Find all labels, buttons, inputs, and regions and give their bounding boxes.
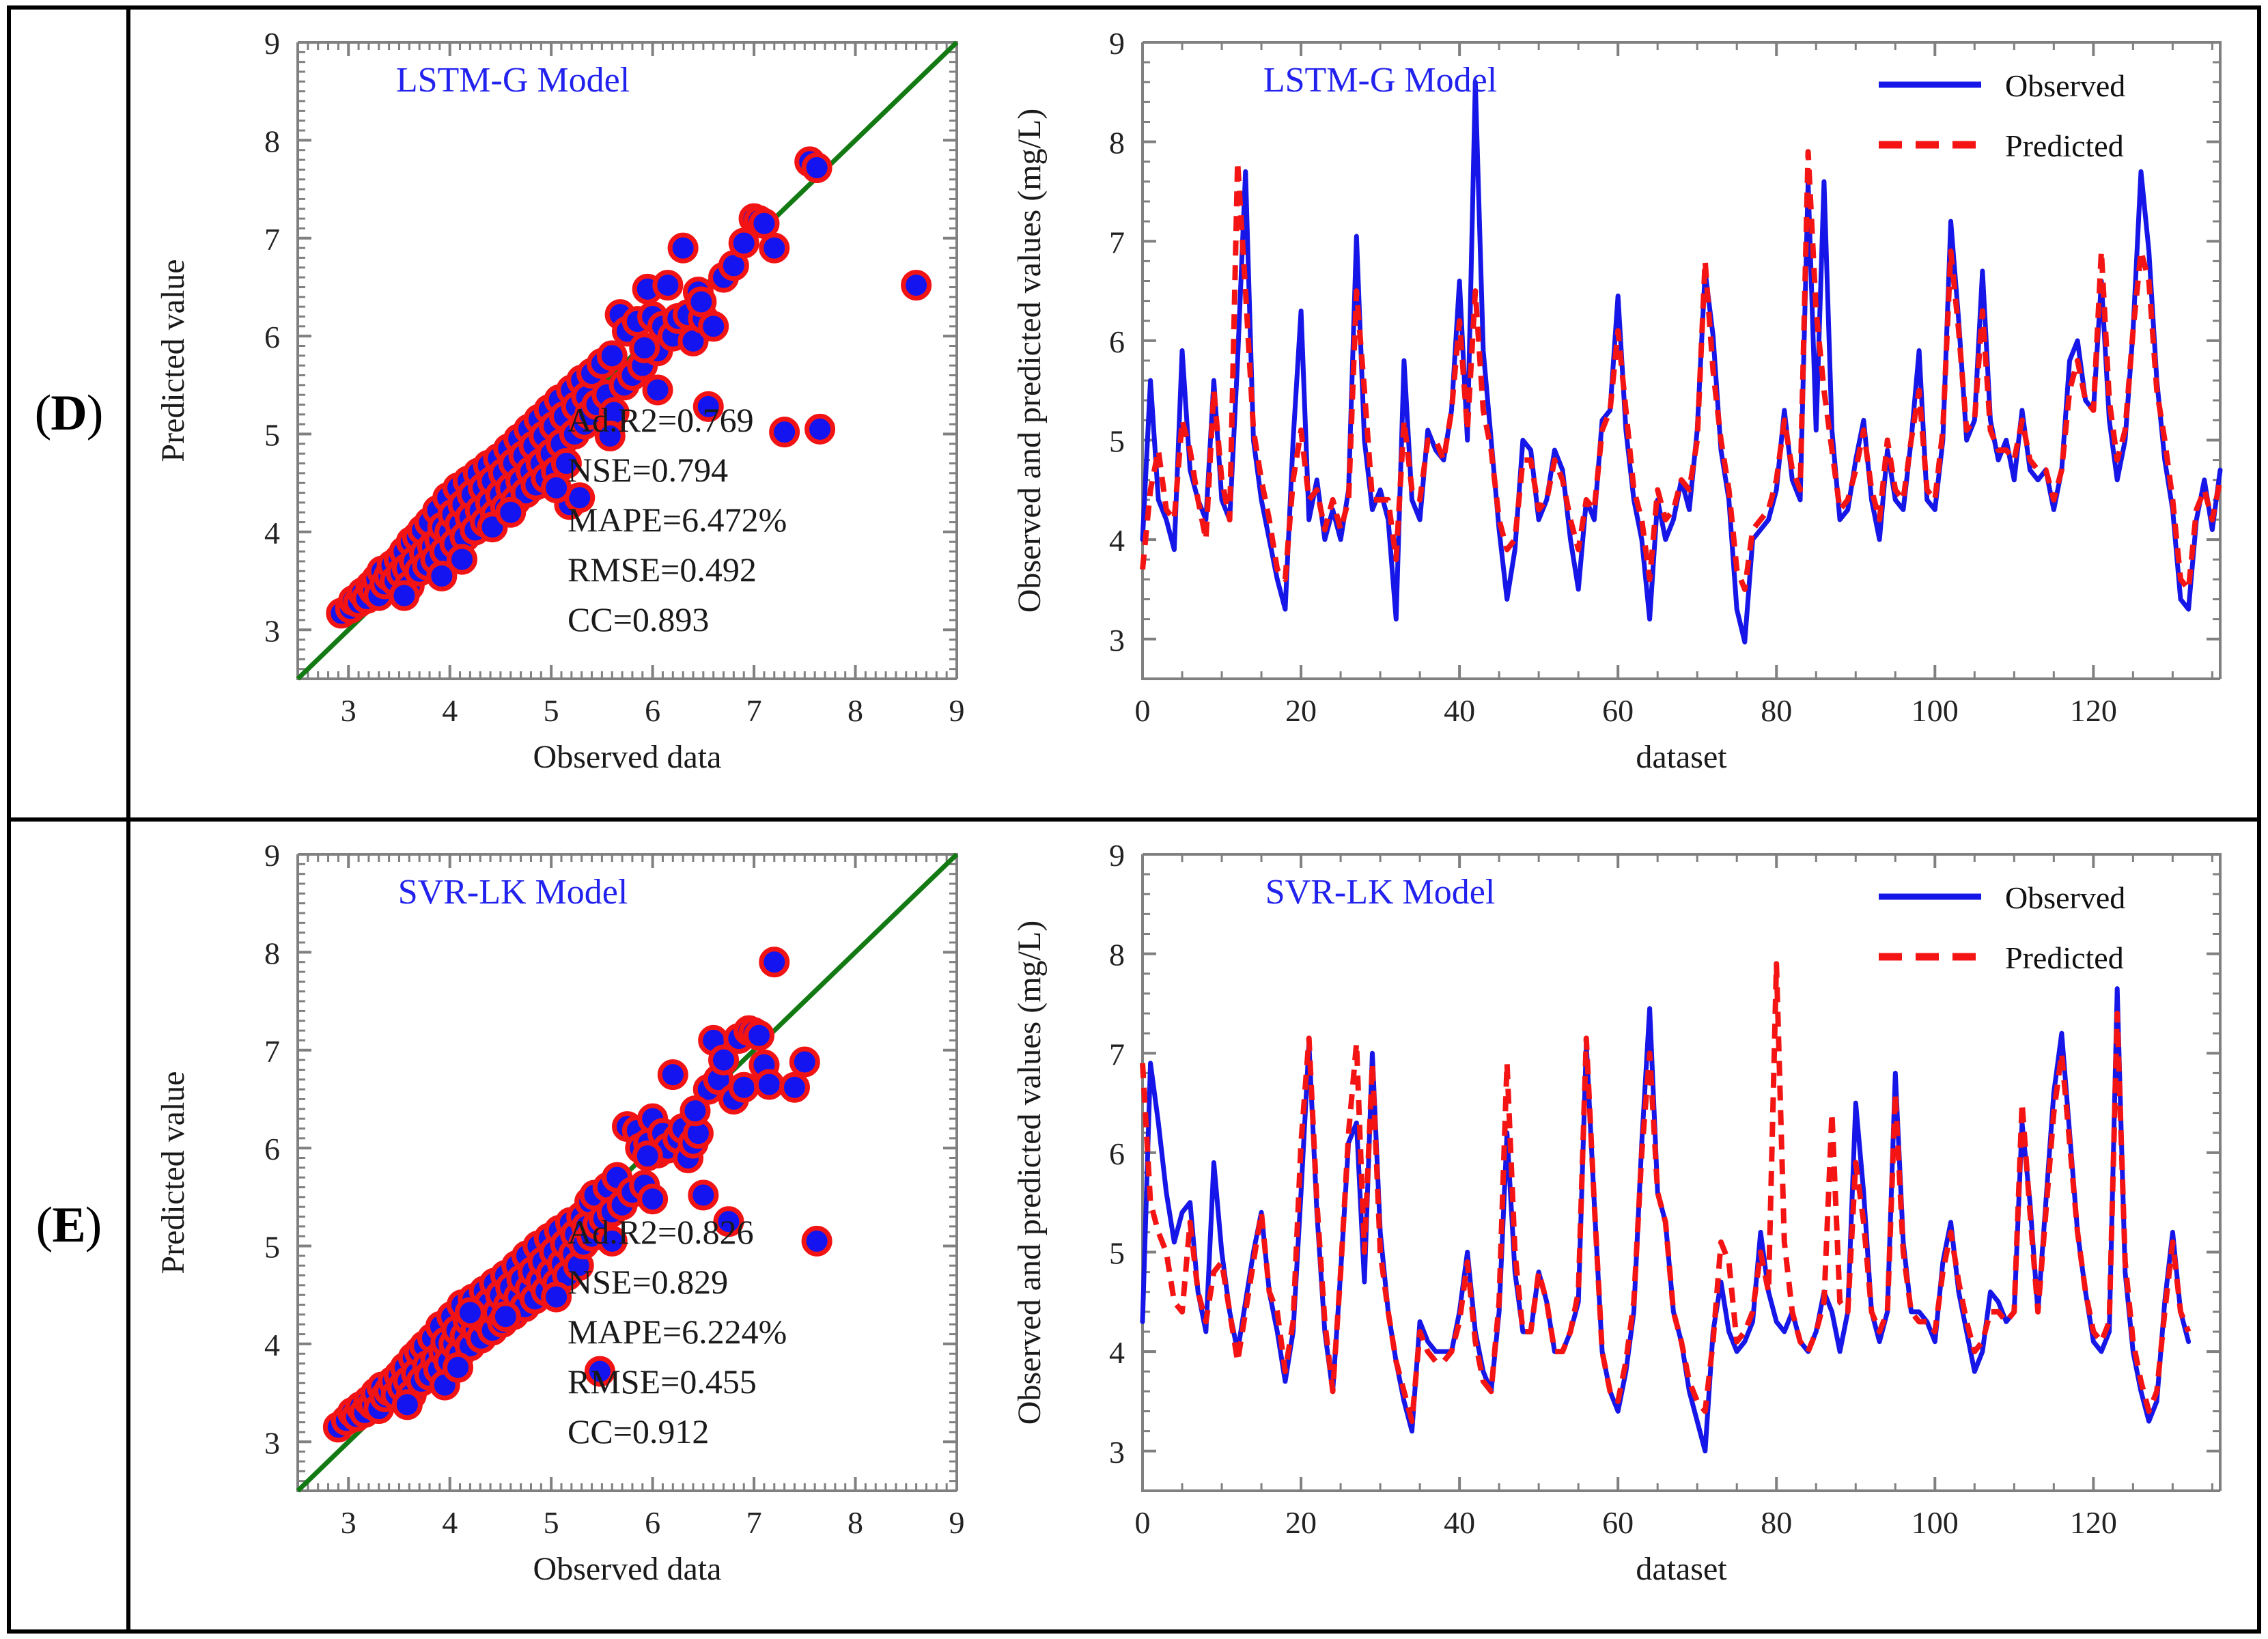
svg-text:SVR-LK Model: SVR-LK Model [398, 873, 628, 912]
svg-text:80: 80 [1761, 693, 1792, 728]
svg-text:7: 7 [746, 1505, 762, 1540]
svg-text:NSE=0.794: NSE=0.794 [568, 451, 728, 489]
svg-text:0: 0 [1135, 1505, 1151, 1540]
svg-text:5: 5 [1109, 1236, 1125, 1271]
svg-text:4: 4 [442, 693, 458, 728]
svg-text:6: 6 [645, 1505, 660, 1540]
svg-text:NSE=0.829: NSE=0.829 [568, 1263, 728, 1301]
svg-text:5: 5 [544, 1505, 559, 1540]
svg-text:Predicted value: Predicted value [155, 1071, 191, 1274]
svg-text:Observed and predicted values: Observed and predicted values (mg/L) [1011, 921, 1048, 1425]
svg-text:Observed: Observed [2005, 880, 2125, 915]
figure-grid: (D) 34567893456789Observed dataPredicted… [7, 5, 2261, 1634]
svg-text:LSTM-G Model: LSTM-G Model [396, 61, 630, 100]
panel-row-E: (E) 34567893456789Observed dataPredicted… [11, 822, 2257, 1629]
svg-text:5: 5 [544, 693, 559, 728]
svg-text:3: 3 [1109, 1435, 1125, 1470]
svg-text:9: 9 [264, 26, 280, 61]
svg-text:8: 8 [264, 124, 280, 158]
panel-label-E: (E) [36, 1196, 102, 1255]
svg-text:3: 3 [341, 1505, 356, 1540]
svg-text:Ad.R2=0.769: Ad.R2=0.769 [568, 401, 754, 439]
panel-letter-E: E [52, 1197, 85, 1253]
panel-label-cell-D: (D) [11, 10, 130, 817]
svg-text:0: 0 [1135, 693, 1151, 728]
svg-text:SVR-LK Model: SVR-LK Model [1265, 873, 1496, 912]
svg-text:9: 9 [1109, 838, 1125, 873]
svg-text:6: 6 [645, 693, 660, 728]
svg-text:6: 6 [264, 320, 280, 354]
svg-text:60: 60 [1602, 693, 1634, 728]
svg-text:100: 100 [1912, 1505, 1959, 1540]
svg-text:5: 5 [1109, 424, 1125, 459]
svg-text:Observed and predicted values: Observed and predicted values (mg/L) [1011, 109, 1048, 613]
scatter-plot-E: 34567893456789Observed dataPredicted val… [130, 822, 998, 1629]
svg-text:8: 8 [848, 1505, 863, 1540]
svg-text:CC=0.912: CC=0.912 [568, 1412, 709, 1451]
panel-content-E: 34567893456789Observed dataPredicted val… [130, 822, 2257, 1629]
svg-text:RMSE=0.455: RMSE=0.455 [568, 1362, 757, 1401]
svg-text:120: 120 [2070, 693, 2117, 728]
svg-text:8: 8 [848, 693, 863, 728]
svg-text:MAPE=6.224%: MAPE=6.224% [568, 1313, 787, 1351]
figure-root: (D) 34567893456789Observed dataPredicted… [0, 0, 2268, 1639]
svg-text:7: 7 [264, 1034, 280, 1069]
panel-label-D: (D) [35, 384, 103, 443]
svg-text:7: 7 [746, 693, 762, 728]
svg-text:8: 8 [1109, 938, 1125, 972]
svg-text:4: 4 [264, 1328, 280, 1362]
svg-text:RMSE=0.492: RMSE=0.492 [568, 550, 757, 589]
svg-text:Observed data: Observed data [533, 1551, 722, 1587]
svg-text:Predicted: Predicted [2005, 940, 2124, 975]
svg-text:MAPE=6.472%: MAPE=6.472% [568, 501, 787, 539]
svg-text:dataset: dataset [1636, 739, 1727, 775]
svg-text:7: 7 [264, 222, 280, 257]
svg-text:Ad.R2=0.826: Ad.R2=0.826 [568, 1213, 754, 1251]
svg-text:6: 6 [1109, 1136, 1125, 1171]
svg-text:4: 4 [442, 1505, 458, 1540]
svg-text:3: 3 [341, 693, 356, 728]
svg-text:4: 4 [1109, 1335, 1125, 1370]
svg-text:5: 5 [264, 418, 280, 453]
svg-text:8: 8 [1109, 126, 1125, 160]
panel-row-D: (D) 34567893456789Observed dataPredicted… [11, 10, 2257, 822]
svg-text:3: 3 [264, 1425, 280, 1460]
svg-text:9: 9 [264, 838, 280, 873]
series-plot-D: 0204060801001203456789datasetObserved an… [998, 10, 2257, 817]
svg-text:4: 4 [1109, 523, 1125, 558]
svg-text:Observed data: Observed data [533, 739, 722, 775]
panel-label-cell-E: (E) [11, 822, 130, 1629]
series-plot-E: 0204060801001203456789datasetObserved an… [998, 822, 2257, 1629]
svg-text:Observed: Observed [2005, 68, 2125, 103]
svg-text:9: 9 [949, 693, 965, 728]
svg-text:5: 5 [264, 1230, 280, 1265]
svg-text:9: 9 [1109, 26, 1125, 61]
svg-text:Predicted: Predicted [2005, 128, 2124, 163]
svg-text:7: 7 [1109, 1037, 1125, 1071]
svg-text:120: 120 [2070, 1505, 2117, 1540]
panel-letter-D: D [51, 385, 86, 441]
svg-text:100: 100 [1912, 693, 1959, 728]
svg-text:3: 3 [264, 613, 280, 648]
svg-text:Predicted value: Predicted value [155, 259, 191, 462]
scatter-plot-D: 34567893456789Observed dataPredicted val… [130, 10, 998, 817]
svg-text:6: 6 [1109, 324, 1125, 359]
svg-text:8: 8 [264, 936, 280, 970]
svg-text:20: 20 [1285, 693, 1317, 728]
svg-text:6: 6 [264, 1132, 280, 1166]
svg-text:20: 20 [1285, 1505, 1317, 1540]
svg-text:40: 40 [1444, 693, 1475, 728]
svg-text:60: 60 [1602, 1505, 1634, 1540]
svg-text:4: 4 [264, 516, 280, 550]
svg-text:dataset: dataset [1636, 1551, 1727, 1587]
svg-text:9: 9 [949, 1505, 965, 1540]
svg-text:80: 80 [1761, 1505, 1792, 1540]
svg-text:3: 3 [1109, 623, 1125, 658]
svg-text:LSTM-G Model: LSTM-G Model [1263, 61, 1497, 100]
panel-content-D: 34567893456789Observed dataPredicted val… [130, 10, 2257, 817]
svg-text:7: 7 [1109, 225, 1125, 260]
svg-text:CC=0.893: CC=0.893 [568, 600, 709, 639]
svg-text:40: 40 [1444, 1505, 1475, 1540]
